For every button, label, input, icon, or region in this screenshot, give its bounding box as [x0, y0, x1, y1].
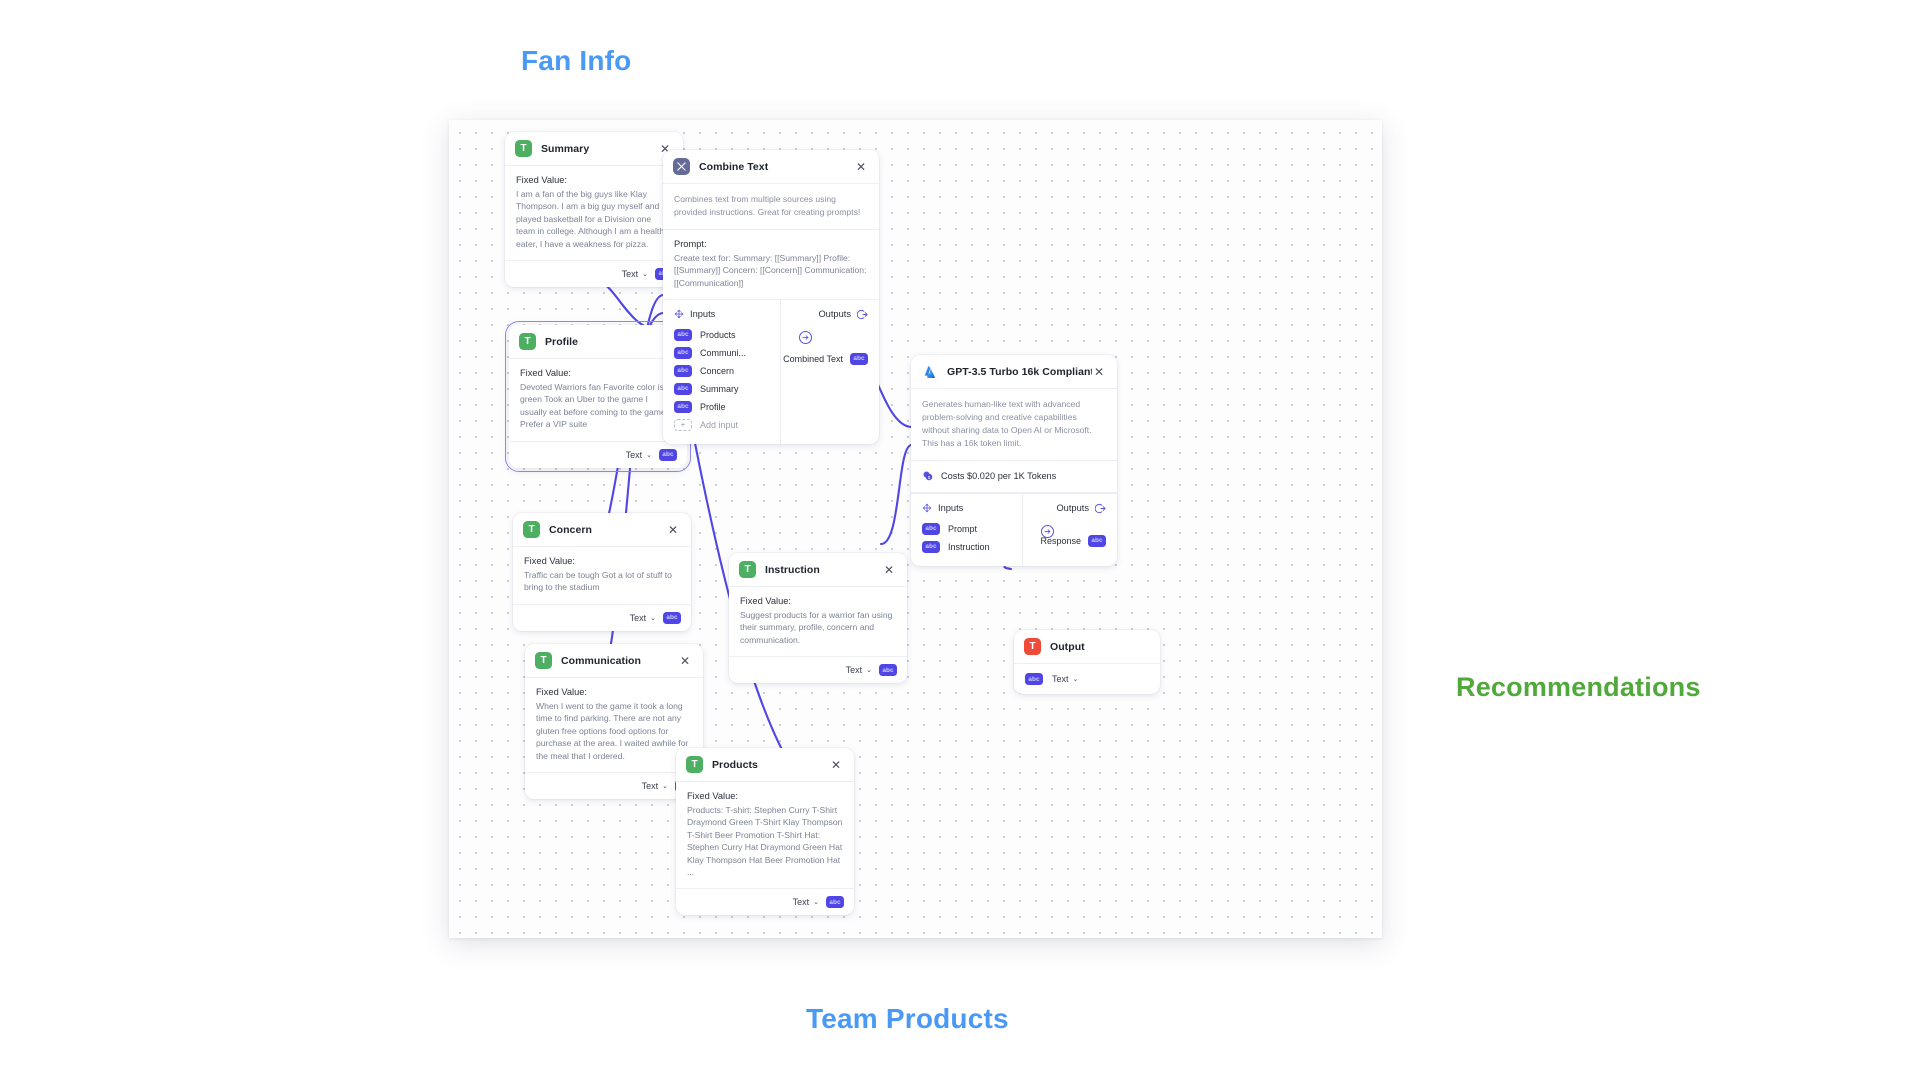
input-name: Prompt: [948, 524, 977, 534]
node-combine-text[interactable]: Combine Text ✕ Combines text from multip…: [663, 150, 879, 444]
chevron-down-icon: ⌄: [646, 451, 652, 459]
inputs-column: Inputs abc Prompt abc Instruction: [911, 494, 1023, 566]
prompt-label: Prompt:: [674, 239, 868, 249]
fixed-value-text: Products: T-shirt: Stephen Curry T-Shirt…: [687, 804, 843, 878]
node-profile[interactable]: T Profile ✕ Fixed Value: Devoted Warrior…: [509, 325, 687, 468]
type-select[interactable]: Text ⌄: [630, 613, 656, 623]
chevron-down-icon: ⌄: [642, 270, 648, 278]
chevron-down-icon: ⌄: [813, 898, 819, 906]
fixed-value-text: Devoted Warriors fan Favorite color is g…: [520, 381, 676, 431]
node-concern[interactable]: T Concern ✕ Fixed Value: Traffic can be …: [513, 513, 691, 631]
io-section: Inputs abc Prompt abc Instruction Output…: [911, 493, 1117, 566]
arrow-right-icon: [1044, 528, 1051, 535]
output-port-abc[interactable]: abc: [826, 896, 844, 908]
node-title: Concern: [549, 524, 666, 536]
text-node-icon: T: [739, 561, 756, 578]
close-icon[interactable]: ✕: [666, 522, 680, 538]
node-header: GPT-3.5 Turbo 16k Compliant ✕: [911, 355, 1117, 389]
close-icon[interactable]: ✕: [1092, 364, 1106, 380]
node-summary[interactable]: T Summary ✕ Fixed Value: I am a fan of t…: [505, 132, 683, 287]
output-port-abc[interactable]: abc: [663, 612, 681, 624]
cost-label: Costs $0.020 per 1K Tokens: [941, 471, 1056, 481]
fixed-value-label: Fixed Value:: [740, 596, 896, 606]
type-select[interactable]: Text ⌄: [642, 781, 668, 791]
outputs-icon: [857, 309, 868, 320]
fixed-value-label: Fixed Value:: [520, 368, 676, 378]
output-node-icon: T: [1024, 638, 1041, 655]
input-row-profile[interactable]: abc Profile: [663, 398, 780, 416]
node-footer: Text ⌄ abc: [729, 656, 907, 683]
fixed-value-label: Fixed Value:: [524, 556, 680, 566]
type-select-value: Text: [626, 450, 643, 460]
azure-logo-icon: [922, 364, 938, 380]
input-port-abc[interactable]: abc: [674, 329, 692, 341]
type-select-value: Text: [622, 269, 639, 279]
inputs-header: Inputs: [911, 503, 1022, 513]
node-footer: Text ⌄ abc: [676, 888, 854, 915]
node-body: Prompt: Create text for: Summary: [[Summ…: [663, 230, 879, 299]
input-port-abc[interactable]: abc: [674, 383, 692, 395]
chevron-down-icon: ⌄: [650, 614, 656, 622]
node-header: T Products ✕: [676, 748, 854, 782]
cost-row: $ Costs $0.020 per 1K Tokens: [911, 461, 1117, 493]
node-title: Combine Text: [699, 161, 854, 173]
chevron-down-icon: ⌄: [662, 782, 668, 790]
input-port-abc[interactable]: abc: [922, 541, 940, 553]
fixed-value-label: Fixed Value:: [687, 791, 843, 801]
inputs-header: Inputs: [663, 309, 780, 319]
fixed-value-text: Suggest products for a warrior fan using…: [740, 609, 896, 646]
type-select-value: Text: [846, 665, 863, 675]
outputs-header: Outputs: [1023, 503, 1117, 514]
close-icon[interactable]: ✕: [854, 159, 868, 175]
input-row-instruction[interactable]: abc Instruction: [911, 538, 1022, 556]
node-body: Fixed Value: Traffic can be tough Got a …: [513, 547, 691, 604]
text-node-icon: T: [686, 756, 703, 773]
type-select-value: Text: [642, 781, 659, 791]
input-port-abc[interactable]: abc: [1025, 673, 1043, 685]
input-port-abc[interactable]: abc: [674, 347, 692, 359]
type-select[interactable]: Text ⌄: [622, 269, 648, 279]
type-select-value: Text: [793, 897, 810, 907]
node-header: T Output: [1014, 630, 1160, 664]
node-instruction[interactable]: T Instruction ✕ Fixed Value: Suggest pro…: [729, 553, 907, 683]
input-name: Profile: [700, 402, 726, 412]
node-body: Fixed Value: Suggest products for a warr…: [729, 587, 907, 656]
add-input-button[interactable]: + Add input: [663, 416, 780, 434]
annotation-team-products: Team Products: [806, 1003, 1009, 1035]
input-row-summary[interactable]: abc Summary: [663, 380, 780, 398]
node-header: Combine Text ✕: [663, 150, 879, 184]
input-row-concern[interactable]: abc Concern: [663, 362, 780, 380]
node-footer: Text ⌄ abc: [513, 604, 691, 631]
type-select[interactable]: Text ⌄: [1052, 674, 1078, 684]
add-input-label: Add input: [700, 420, 738, 430]
run-node-button[interactable]: [1041, 525, 1054, 538]
outputs-icon: [1095, 503, 1106, 514]
close-icon[interactable]: ✕: [882, 562, 896, 578]
output-port-abc[interactable]: abc: [1088, 535, 1106, 547]
outputs-label: Outputs: [818, 309, 851, 319]
node-header: T Communication ✕: [525, 644, 703, 678]
plus-icon: +: [674, 419, 692, 431]
input-row-prompt[interactable]: abc Prompt: [911, 520, 1022, 538]
node-body: Fixed Value: Devoted Warriors fan Favori…: [509, 359, 687, 441]
text-node-icon: T: [523, 521, 540, 538]
node-footer: Text ⌄ abc: [509, 441, 687, 468]
input-name: Instruction: [948, 542, 990, 552]
input-name: Concern: [700, 366, 734, 376]
node-description: Combines text from multiple sources usin…: [663, 184, 879, 230]
input-row-communication[interactable]: abc Communi...: [663, 344, 780, 362]
type-select[interactable]: Text ⌄: [846, 665, 872, 675]
inputs-icon: [922, 503, 932, 513]
input-name: Products: [700, 330, 736, 340]
fixed-value-label: Fixed Value:: [536, 687, 692, 697]
input-row-products[interactable]: abc Products: [663, 326, 780, 344]
outputs-column: Outputs Combined Text abc: [781, 300, 879, 444]
fixed-value-label: Fixed Value:: [516, 175, 672, 185]
inputs-column: Inputs abc Products abc Communi... abc C…: [663, 300, 781, 444]
input-port-abc[interactable]: abc: [674, 401, 692, 413]
output-name: Combined Text: [783, 354, 843, 364]
annotation-fan-info: Fan Info: [521, 45, 631, 77]
inputs-icon: [674, 309, 684, 319]
node-header: T Instruction ✕: [729, 553, 907, 587]
node-footer: Text ⌄ abc: [505, 260, 683, 287]
arrow-right-icon: [802, 334, 809, 341]
flow-canvas[interactable]: T Summary ✕ Fixed Value: I am a fan of t…: [449, 120, 1382, 938]
node-products[interactable]: T Products ✕ Fixed Value: Products: T-sh…: [676, 748, 854, 915]
text-node-icon: T: [535, 652, 552, 669]
coins-icon: $: [922, 470, 934, 482]
node-gpt-35-turbo[interactable]: GPT-3.5 Turbo 16k Compliant ✕ Generates …: [911, 355, 1117, 566]
input-port-abc[interactable]: abc: [922, 523, 940, 535]
node-header: T Concern ✕: [513, 513, 691, 547]
text-node-icon: T: [519, 333, 536, 350]
output-row-combined-text[interactable]: Combined Text abc: [781, 350, 879, 368]
chevron-down-icon: ⌄: [1073, 675, 1079, 683]
outputs-label: Outputs: [1056, 503, 1089, 513]
combine-text-icon: [673, 158, 690, 175]
text-node-icon: T: [515, 140, 532, 157]
output-row-response[interactable]: Response abc: [1023, 532, 1117, 550]
node-title: Instruction: [765, 564, 882, 576]
canvas-screenshot: Fan Info Team Products Recommendations: [0, 0, 1920, 1080]
inputs-label: Inputs: [938, 503, 963, 513]
node-output[interactable]: T Output abc Text ⌄: [1014, 630, 1160, 694]
node-title: GPT-3.5 Turbo 16k Compliant: [947, 366, 1092, 378]
outputs-header: Outputs: [781, 309, 879, 320]
node-title: Summary: [541, 143, 658, 155]
output-port-abc[interactable]: abc: [659, 449, 677, 461]
node-description: Generates human-like text with advanced …: [911, 389, 1117, 461]
io-section: Inputs abc Products abc Communi... abc C…: [663, 299, 879, 444]
inputs-label: Inputs: [690, 309, 715, 319]
run-node-button[interactable]: [799, 331, 812, 344]
type-select[interactable]: Text ⌄: [793, 897, 819, 907]
input-name: Summary: [700, 384, 739, 394]
node-title: Communication: [561, 655, 678, 667]
output-port-abc[interactable]: abc: [850, 353, 868, 365]
outputs-column: Outputs Response abc: [1023, 494, 1117, 566]
type-select-value: Text: [1052, 674, 1069, 684]
node-title: Profile: [545, 336, 662, 348]
fixed-value-text: I am a fan of the big guys like Klay Tho…: [516, 188, 672, 250]
node-title: Products: [712, 759, 829, 771]
close-icon[interactable]: ✕: [678, 653, 692, 669]
chevron-down-icon: ⌄: [866, 666, 872, 674]
input-port-abc[interactable]: abc: [674, 365, 692, 377]
prompt-text: Create text for: Summary: [[Summary]] Pr…: [674, 252, 868, 289]
node-body: Fixed Value: I am a fan of the big guys …: [505, 166, 683, 260]
type-select-value: Text: [630, 613, 647, 623]
fixed-value-text: Traffic can be tough Got a lot of stuff …: [524, 569, 680, 594]
node-header: T Profile ✕: [509, 325, 687, 359]
input-name: Communi...: [700, 348, 746, 358]
output-port-abc[interactable]: abc: [879, 664, 897, 676]
azure-openai-icon: [921, 363, 938, 380]
close-icon[interactable]: ✕: [829, 757, 843, 773]
node-footer: abc Text ⌄: [1014, 664, 1160, 694]
node-title: Output: [1050, 641, 1149, 653]
fixed-value-text: When I went to the game it took a long t…: [536, 700, 692, 762]
node-body: Fixed Value: Products: T-shirt: Stephen …: [676, 782, 854, 888]
annotation-recommendations: Recommendations: [1456, 672, 1701, 703]
node-header: T Summary ✕: [505, 132, 683, 166]
type-select[interactable]: Text ⌄: [626, 450, 652, 460]
